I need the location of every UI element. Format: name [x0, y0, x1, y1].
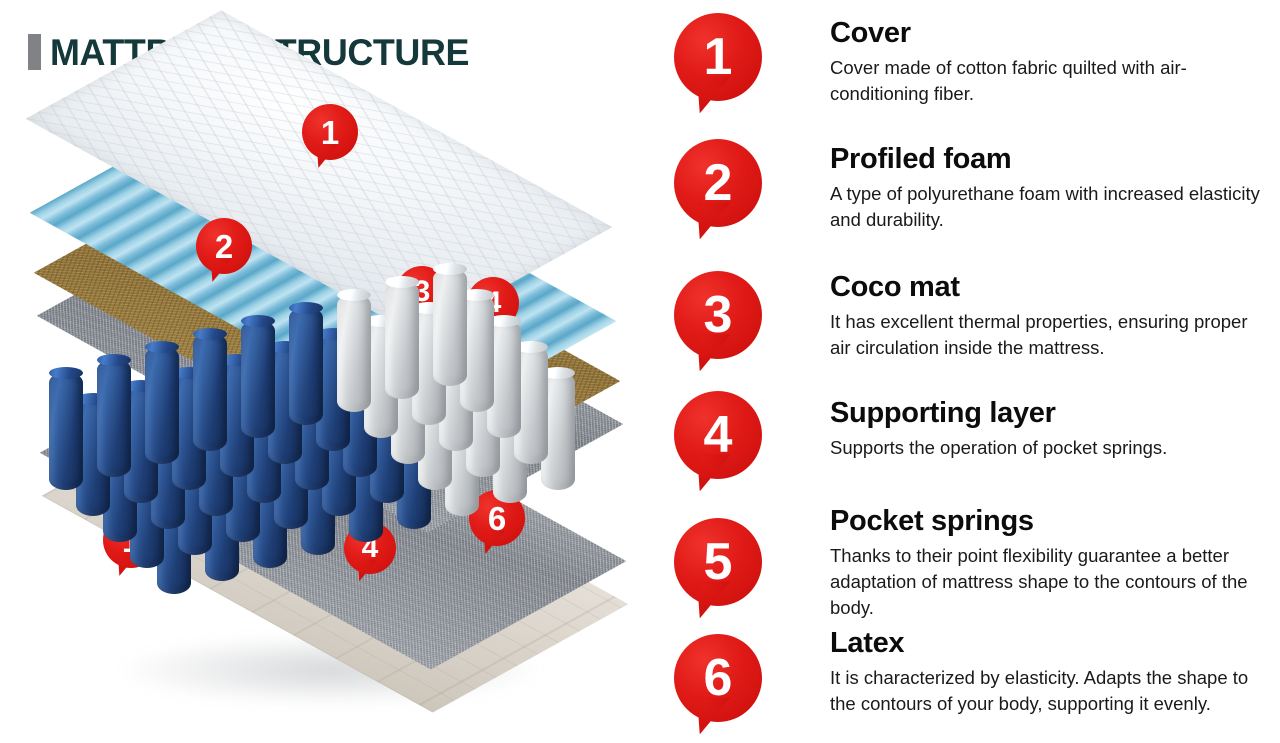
legend-pin-number: 5 [704, 536, 733, 588]
legend-item-description: It has excellent thermal properties, ens… [830, 309, 1270, 361]
pocket-spring-cylinder [337, 294, 371, 412]
callout-pin-number: 6 [488, 502, 506, 535]
legend-item-title: Supporting layer [830, 398, 1270, 430]
legend-item-title: Profiled foam [830, 144, 1270, 176]
legend-pin-number: 4 [704, 409, 733, 461]
legend-item-description: Thanks to their point flexibility guaran… [830, 543, 1270, 621]
legend-item-description: Supports the operation of pocket springs… [830, 435, 1270, 461]
legend-item-title: Cover [830, 18, 1270, 50]
callout-pin-number: 1 [321, 116, 339, 149]
pocket-spring-cylinder [241, 320, 275, 438]
legend-item-title: Pocket springs [830, 506, 1270, 538]
pocket-spring-cylinder [385, 281, 419, 399]
legend-text-block-5: Pocket springsThanks to their point flex… [830, 506, 1270, 621]
legend-item-title: Latex [830, 628, 1270, 660]
pocket-spring-cylinder [49, 372, 83, 490]
callout-pin-number: 2 [215, 230, 233, 263]
pocket-spring-cylinder [433, 268, 467, 386]
legend-pin-3[interactable]: 3 [674, 271, 762, 359]
callout-pin-1-cover[interactable]: 1 [302, 104, 358, 160]
legend-pin-2[interactable]: 2 [674, 139, 762, 227]
legend-pin-number: 2 [704, 157, 733, 209]
title-accent-bar [28, 34, 41, 70]
legend-item-description: Cover made of cotton fabric quilted with… [830, 55, 1270, 107]
pocket-spring-cylinder [145, 346, 179, 464]
callout-pin-2-profiled-foam[interactable]: 2 [196, 218, 252, 274]
legend-item-description: A type of polyurethane foam with increas… [830, 181, 1270, 233]
legend-pin-6[interactable]: 6 [674, 634, 762, 722]
legend-item-description: It is characterized by elasticity. Adapt… [830, 665, 1270, 717]
legend-list: 1CoverCover made of cotton fabric quilte… [660, 0, 1280, 743]
legend-pin-number: 1 [704, 31, 733, 83]
legend-text-block-1: CoverCover made of cotton fabric quilted… [830, 18, 1270, 107]
pocket-spring-cylinder [289, 307, 323, 425]
legend-text-block-4: Supporting layerSupports the operation o… [830, 398, 1270, 461]
layer-pocket-springs [60, 352, 600, 602]
legend-pin-4[interactable]: 4 [674, 391, 762, 479]
legend-pin-number: 6 [704, 652, 733, 704]
legend-pin-number: 3 [704, 289, 733, 341]
legend-pin-1[interactable]: 1 [674, 13, 762, 101]
legend-text-block-6: LatexIt is characterized by elasticity. … [830, 628, 1270, 717]
infographic-page: MATTRESS STRUCTURE 123451 [0, 0, 1280, 743]
legend-text-block-2: Profiled foamA type of polyurethane foam… [830, 144, 1270, 233]
legend-item-title: Coco mat [830, 272, 1270, 304]
legend-text-block-3: Coco matIt has excellent thermal propert… [830, 272, 1270, 361]
pocket-spring-cylinder [97, 359, 131, 477]
mattress-cutaway-illustration: 12345146 [0, 70, 660, 743]
pocket-spring-cylinder [193, 333, 227, 451]
legend-pin-5[interactable]: 5 [674, 518, 762, 606]
